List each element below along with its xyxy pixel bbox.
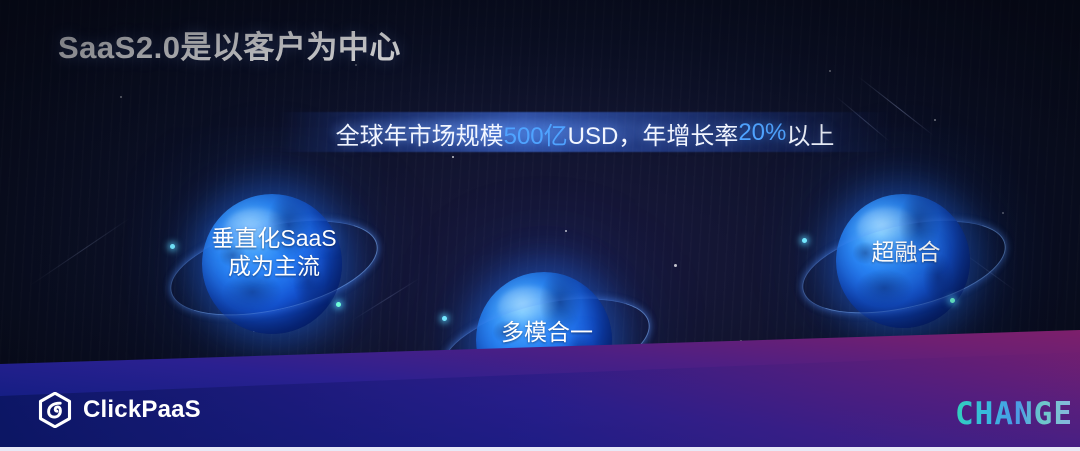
slide-canvas: SaaS2.0是以客户为中心 全球年市场规模 500亿USD，年增长率20%以上… xyxy=(0,0,1080,451)
orbit-dot xyxy=(442,316,447,321)
subtitle: 全球年市场规模 500亿USD，年增长率20%以上 xyxy=(278,114,892,152)
star-dot xyxy=(452,156,454,158)
star-dot xyxy=(740,340,742,342)
star-dot xyxy=(934,119,936,121)
orbit-dot xyxy=(336,302,341,307)
subtitle-part-2: USD，年增长率 xyxy=(568,116,739,151)
subtitle-part-1: 全球年市场规模 xyxy=(336,116,504,151)
bottom-edge-strip xyxy=(0,447,1080,451)
page-title: SaaS2.0是以客户为中心 xyxy=(58,22,401,67)
orbit-dot xyxy=(802,238,807,243)
node-vertical-saas[interactable]: 垂直化SaaS 成为主流 xyxy=(186,186,362,338)
star-dot xyxy=(1002,212,1004,214)
orbit-dot xyxy=(950,298,955,303)
star-dot xyxy=(565,230,567,232)
clickpaas-hexagon-logo-icon xyxy=(38,392,72,428)
star-dot xyxy=(829,70,831,72)
brand-name: ClickPaaS xyxy=(83,396,201,424)
brand-logo[interactable]: ClickPaaS xyxy=(38,392,201,428)
star-dot xyxy=(674,264,677,267)
subtitle-highlight-market-size: 500亿 xyxy=(504,116,568,151)
subtitle-highlight-growth-rate: 20% xyxy=(738,119,786,147)
campaign-wordmark: CHANGE xyxy=(955,396,1073,432)
node-multi-mode[interactable]: 多模合一 xyxy=(462,266,632,414)
orbit-dot xyxy=(590,378,595,383)
node-hyper-converged[interactable]: 超融合 xyxy=(824,190,988,336)
star-dot xyxy=(120,96,122,98)
meteor-streak xyxy=(655,355,733,401)
orbit-dot xyxy=(170,244,175,249)
subtitle-part-3: 以上 xyxy=(786,116,834,151)
meteor-streak xyxy=(30,218,130,286)
